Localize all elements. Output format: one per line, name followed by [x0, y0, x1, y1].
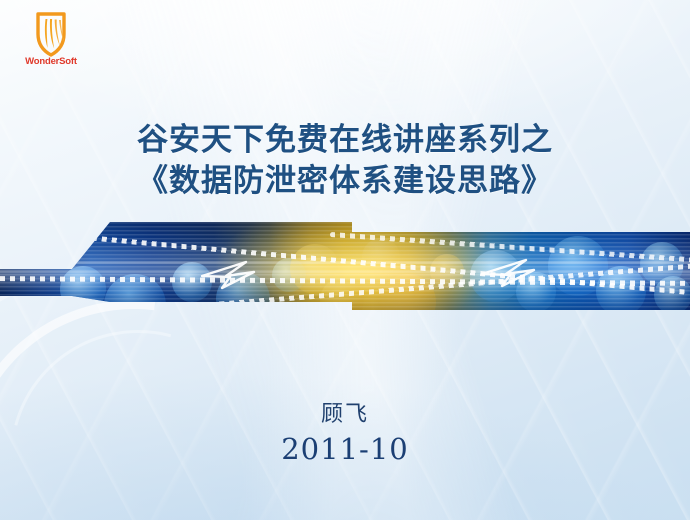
presenter-name: 顾飞: [0, 396, 690, 428]
banner-band: [0, 214, 690, 326]
logo-wordmark: WonderSoft: [14, 56, 88, 67]
paper-plane-icon: [476, 250, 548, 292]
presentation-slide: WonderSoft 谷安天下免费在线讲座系列之 《数据防泄密体系建设思路》: [0, 0, 690, 520]
company-logo: WonderSoft: [14, 10, 88, 72]
presentation-date: 2011-10: [0, 432, 690, 466]
decorative-banner: [0, 214, 690, 326]
slide-title: 谷安天下免费在线讲座系列之 《数据防泄密体系建设思路》: [0, 120, 690, 202]
paper-plane-icon: [196, 252, 268, 294]
shield-flame-icon: [14, 10, 88, 58]
banner-scanlines: [0, 214, 690, 326]
slide-title-line-1: 谷安天下免费在线讲座系列之: [0, 120, 690, 161]
slide-title-line-2: 《数据防泄密体系建设思路》: [0, 161, 690, 202]
